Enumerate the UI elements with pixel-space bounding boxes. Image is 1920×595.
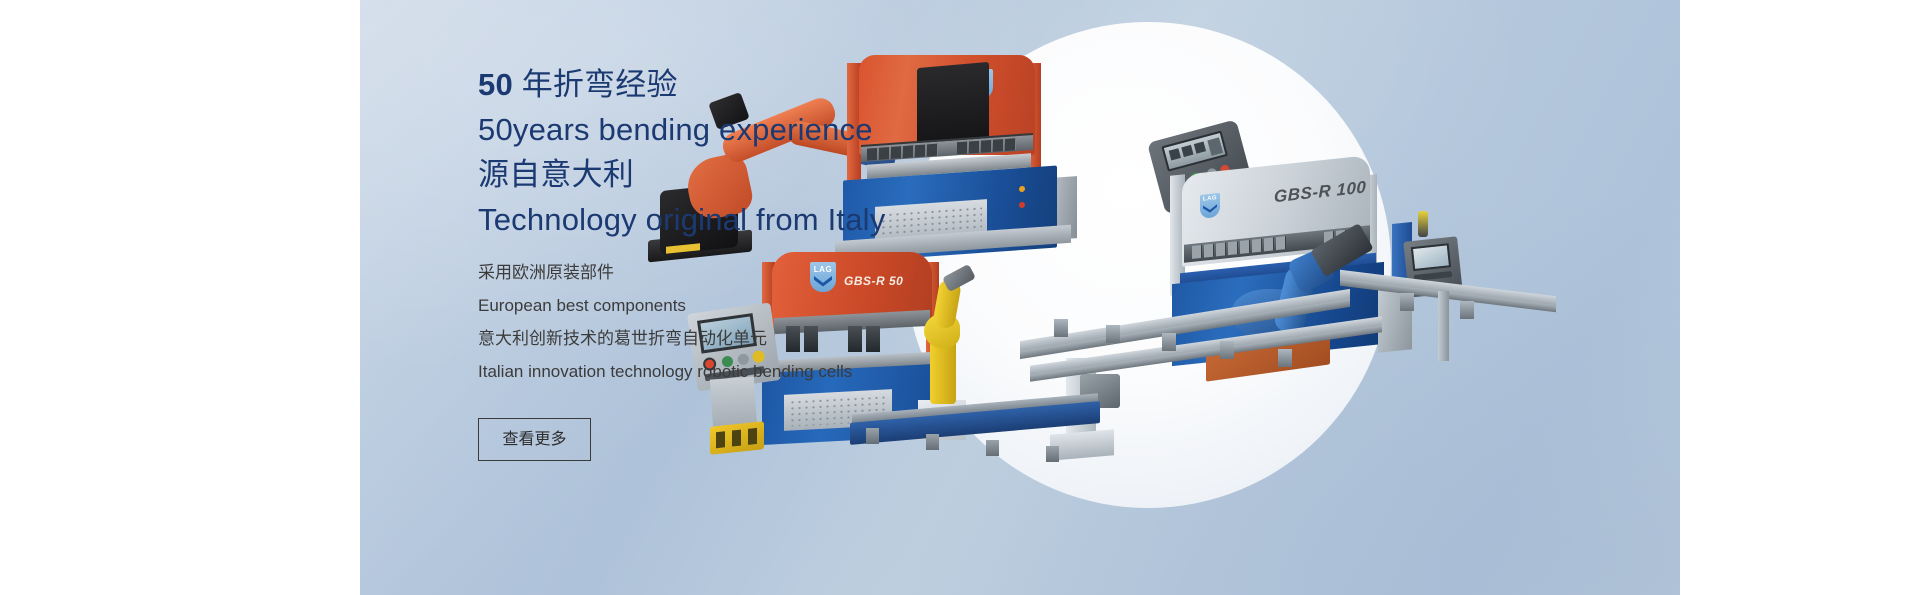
headline-line-1: 50 年折弯经验 bbox=[478, 62, 1118, 107]
subtext-line-3: 意大利创新技术的葛世折弯自动化单元 bbox=[478, 322, 1118, 355]
hero-banner: LAG bbox=[360, 0, 1680, 595]
headline-line-3: 源自意大利 bbox=[478, 152, 1118, 197]
headline-line-1-rest: 年折弯经验 bbox=[513, 67, 678, 102]
subtext-line-4: Italian innovation technology robotic be… bbox=[478, 355, 1118, 388]
hero-copy-block: 50 年折弯经验 50years bending experience 源自意大… bbox=[478, 62, 1118, 461]
subtext-line-2: European best components bbox=[478, 289, 1118, 322]
headline-group: 50 年折弯经验 50years bending experience 源自意大… bbox=[478, 62, 1118, 242]
subtext-group: 采用欧洲原装部件 European best components 意大利创新技… bbox=[478, 256, 1118, 388]
view-more-button[interactable]: 查看更多 bbox=[478, 418, 591, 461]
headline-line-2: 50years bending experience bbox=[478, 107, 1118, 152]
subtext-line-1: 采用欧洲原装部件 bbox=[478, 256, 1118, 289]
headline-number: 50 bbox=[478, 67, 513, 102]
headline-line-4: Technology original from Italy bbox=[478, 197, 1118, 242]
hero-banner-screenshot: LAG bbox=[0, 0, 1920, 595]
